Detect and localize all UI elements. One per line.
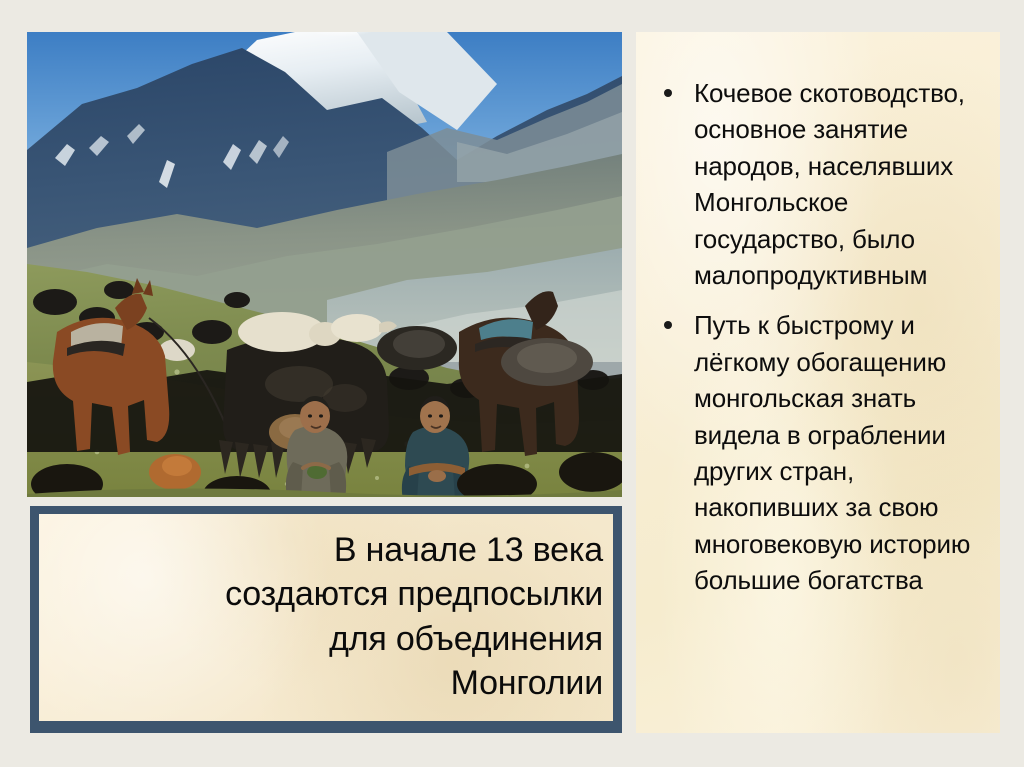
bullet-dot-icon [664,321,672,329]
caption-line-1: В начале 13 века [53,528,603,572]
caption-box: В начале 13 века создаются предпосылки д… [30,506,622,733]
bullet-text: Кочевое скотоводство, основное занятие н… [694,78,965,290]
list-item: Путь к быстрому и лёгкому обогащению мон… [650,307,982,598]
list-item: Кочевое скотоводство, основное занятие н… [650,75,982,293]
bullet-list: Кочевое скотоводство, основное занятие н… [636,32,1000,598]
mongolian-nomads-yaks-photo [27,32,622,497]
bullet-text: Путь к быстрому и лёгкому обогащению мон… [694,310,970,595]
slide-root: В начале 13 века создаются предпосылки д… [0,0,1024,767]
caption-line-4: Монголии [53,661,603,705]
bullet-dot-icon [664,89,672,97]
photo-illustration [27,32,622,497]
caption-line-2: создаются предпосылки [53,572,603,616]
content-panel: Кочевое скотоводство, основное занятие н… [636,32,1000,733]
caption-text: В начале 13 века создаются предпосылки д… [53,528,603,705]
caption-inner: В начале 13 века создаются предпосылки д… [39,514,613,721]
caption-line-3: для объединения [53,617,603,661]
